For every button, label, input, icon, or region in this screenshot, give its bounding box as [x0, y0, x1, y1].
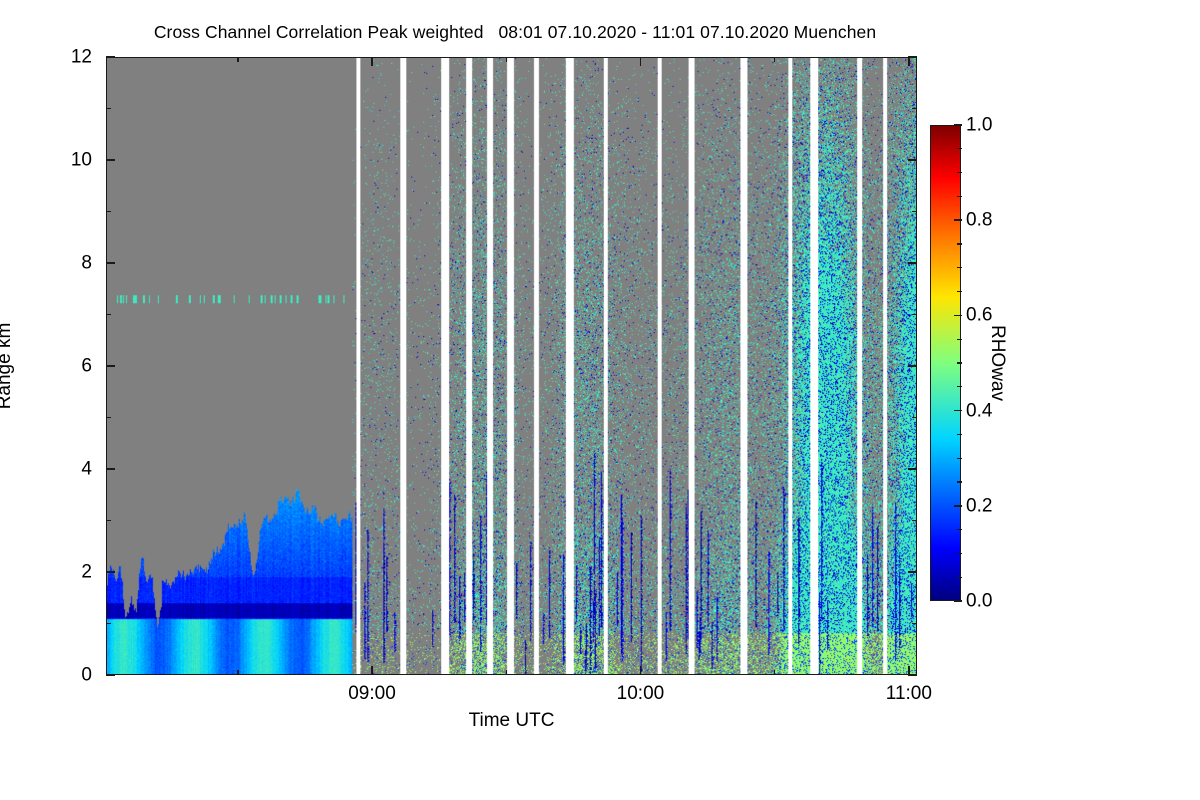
y-tick-label: 0 [0, 666, 92, 685]
y-tick-label: 10 [0, 151, 92, 170]
x-tick-minor [237, 57, 239, 62]
x-tick-minor [774, 57, 776, 62]
x-tick-minor [506, 57, 508, 62]
y-tick-label: 8 [0, 254, 92, 273]
colorbar-title: RHOwav [986, 325, 1008, 401]
y-tick-major [908, 571, 917, 573]
colorbar-tick-major [954, 124, 962, 126]
y-tick-minor [912, 417, 917, 419]
y-tick-minor [106, 623, 111, 625]
x-axis-title: Time UTC [106, 710, 917, 732]
colorbar-tick-minor [957, 386, 962, 387]
x-tick-label: 11:00 [849, 684, 969, 703]
chart-title: Cross Channel Correlation Peak weighted … [0, 22, 1030, 43]
x-tick-minor [237, 670, 239, 675]
x-tick-label: 10:00 [580, 684, 700, 703]
x-tick-major [908, 666, 910, 675]
y-tick-major [908, 159, 917, 161]
y-tick-major [106, 571, 115, 573]
colorbar-tick-minor [957, 362, 962, 363]
y-tick-minor [106, 211, 111, 213]
colorbar-tick-major [954, 315, 962, 317]
y-tick-major [908, 262, 917, 264]
colorbar-tick-label: 0.4 [966, 401, 992, 420]
x-tick-major [640, 666, 642, 675]
colorbar-tick-label: 0.8 [966, 211, 992, 230]
y-tick-major [106, 159, 115, 161]
y-tick-minor [912, 314, 917, 316]
y-tick-minor [106, 417, 111, 419]
y-tick-minor [912, 520, 917, 522]
colorbar-tick-label: 0.2 [966, 496, 992, 515]
y-tick-label: 12 [0, 48, 92, 67]
colorbar-tick-minor [957, 172, 962, 173]
colorbar-tick-minor [957, 243, 962, 244]
y-tick-major [106, 365, 115, 367]
colorbar-tick-minor [957, 577, 962, 578]
y-tick-minor [106, 108, 111, 110]
y-tick-major [908, 365, 917, 367]
colorbar-tick-label: 1.0 [966, 116, 992, 135]
x-tick-major [640, 57, 642, 66]
colorbar-tick-minor [957, 291, 962, 292]
x-tick-minor [774, 670, 776, 675]
y-tick-minor [106, 520, 111, 522]
colorbar-tick-major [954, 600, 962, 602]
y-tick-major [106, 56, 115, 58]
x-tick-major [371, 666, 373, 675]
colorbar-tick-minor [957, 458, 962, 459]
x-tick-label: 09:00 [312, 684, 432, 703]
y-tick-minor [106, 314, 111, 316]
colorbar-tick-minor [957, 267, 962, 268]
x-tick-major [371, 57, 373, 66]
y-tick-label: 2 [0, 563, 92, 582]
y-tick-major [106, 262, 115, 264]
colorbar-tick-minor [957, 553, 962, 554]
figure-root: Cross Channel Correlation Peak weighted … [0, 0, 1200, 800]
colorbar-tick-minor [957, 481, 962, 482]
colorbar-tick-minor [957, 196, 962, 197]
colorbar-tick-minor [957, 529, 962, 530]
colorbar-tick-major [954, 219, 962, 221]
colorbar-tick-minor [957, 148, 962, 149]
y-tick-minor [912, 623, 917, 625]
x-tick-minor [506, 670, 508, 675]
y-tick-minor [912, 108, 917, 110]
y-tick-minor [912, 211, 917, 213]
y-tick-major [106, 468, 115, 470]
heatmap-plot-area [106, 57, 917, 675]
y-tick-label: 4 [0, 460, 92, 479]
colorbar-tick-label: 0.0 [966, 592, 992, 611]
heatmap-canvas [107, 58, 916, 674]
y-tick-major [106, 674, 115, 676]
colorbar-tick-label: 0.6 [966, 306, 992, 325]
x-tick-major [908, 57, 910, 66]
colorbar-gradient [931, 126, 960, 600]
colorbar-tick-minor [957, 434, 962, 435]
colorbar-tick-major [954, 505, 962, 507]
y-tick-major [908, 468, 917, 470]
colorbar-tick-minor [957, 339, 962, 340]
y-axis-title: Range km [0, 323, 16, 410]
colorbar-tick-major [954, 410, 962, 412]
